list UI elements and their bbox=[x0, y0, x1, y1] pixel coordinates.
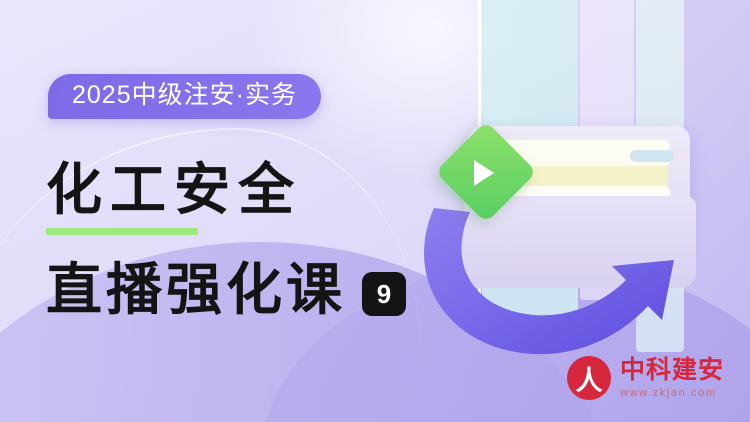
course-promo-banner: 2025中级注安·实务 化工安全 直播强化课 9 人 中科建安 www.zkja… bbox=[0, 0, 750, 422]
episode-number-badge: 9 bbox=[362, 272, 406, 316]
logo-text-group: 中科建安 www.zkjan.com bbox=[620, 357, 724, 398]
page-title-line2: 直播强化课 bbox=[46, 262, 346, 318]
play-icon bbox=[474, 160, 494, 186]
logo-glyph: 人 bbox=[567, 356, 611, 400]
page-title-line1: 化工安全 bbox=[46, 162, 302, 218]
folder-tab bbox=[630, 150, 674, 162]
swoosh-arrow-icon bbox=[416, 188, 706, 363]
logo-brand-name: 中科建安 bbox=[620, 357, 724, 383]
brand-logo: 人 中科建安 www.zkjan.com bbox=[567, 356, 724, 400]
course-category-pill: 2025中级注安·实务 bbox=[48, 74, 321, 119]
title-underline bbox=[46, 228, 198, 235]
logo-mark-icon: 人 bbox=[567, 356, 611, 400]
page-title-line2-row: 直播强化课 9 bbox=[46, 262, 406, 318]
logo-website-url: www.zkjan.com bbox=[620, 387, 724, 399]
